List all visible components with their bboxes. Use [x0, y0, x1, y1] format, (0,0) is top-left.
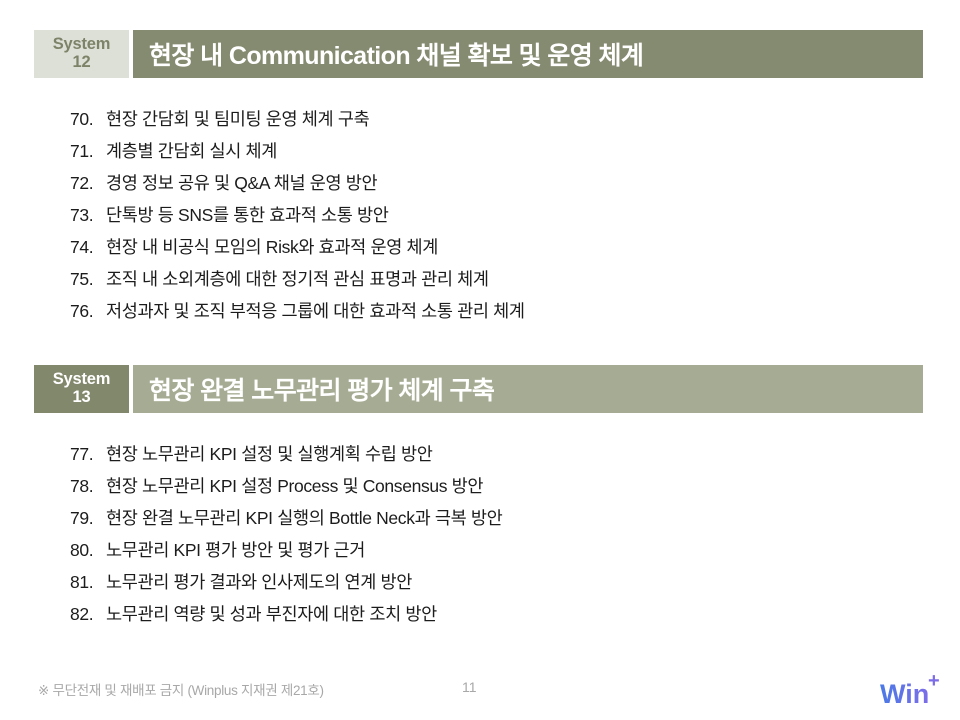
- list-item-number: 75.: [70, 269, 106, 290]
- list-item: 72. 경영 정보 공유 및 Q&A 채널 운영 방안: [70, 170, 525, 202]
- list-item: 76. 저성과자 및 조직 부적응 그룹에 대한 효과적 소통 관리 체계: [70, 298, 525, 330]
- list-item-text: 현장 간담회 및 팀미팅 운영 체계 구축: [106, 106, 525, 131]
- list-item: 78. 현장 노무관리 KPI 설정 Process 및 Consensus 방…: [70, 473, 502, 505]
- list-item-text: 저성과자 및 조직 부적응 그룹에 대한 효과적 소통 관리 체계: [106, 298, 525, 323]
- list-item-text: 조직 내 소외계층에 대한 정기적 관심 표명과 관리 체계: [106, 266, 525, 291]
- section-header-12: System 12 현장 내 Communication 채널 확보 및 운영 …: [34, 30, 923, 78]
- list-item: 82. 노무관리 역량 및 성과 부진자에 대한 조치 방안: [70, 601, 502, 633]
- section-title-bar-12: 현장 내 Communication 채널 확보 및 운영 체계: [133, 30, 923, 78]
- list-item-text: 경영 정보 공유 및 Q&A 채널 운영 방안: [106, 170, 525, 195]
- list-item: 81. 노무관리 평가 결과와 인사제도의 연계 방안: [70, 569, 502, 601]
- list-item-number: 81.: [70, 572, 106, 593]
- list-item-text: 노무관리 평가 결과와 인사제도의 연계 방안: [106, 569, 502, 594]
- page-number: 11: [462, 679, 477, 695]
- list-item-number: 77.: [70, 444, 106, 465]
- list-item-text: 현장 내 비공식 모임의 Risk와 효과적 운영 체계: [106, 234, 525, 259]
- section-title-text: 현장 내 Communication 채널 확보 및 운영 체계: [149, 36, 643, 72]
- winplus-logo-text: Win: [880, 679, 929, 709]
- list-item: 70. 현장 간담회 및 팀미팅 운영 체계 구축: [70, 106, 525, 138]
- item-list-section-13: 77. 현장 노무관리 KPI 설정 및 실행계획 수립 방안 78. 현장 노…: [70, 441, 502, 633]
- list-item-number: 70.: [70, 109, 106, 130]
- winplus-logo-plus: +: [928, 672, 940, 692]
- list-item: 74. 현장 내 비공식 모임의 Risk와 효과적 운영 체계: [70, 234, 525, 266]
- list-item-number: 71.: [70, 141, 106, 162]
- list-item-text: 노무관리 KPI 평가 방안 및 평가 근거: [106, 537, 502, 562]
- list-item-number: 80.: [70, 540, 106, 561]
- item-list-section-12: 70. 현장 간담회 및 팀미팅 운영 체계 구축 71. 계층별 간담회 실시…: [70, 106, 525, 330]
- system-badge-label: System: [53, 371, 111, 389]
- section-title-bar-13: 현장 완결 노무관리 평가 체계 구축: [133, 365, 923, 413]
- system-badge-13: System 13: [34, 365, 129, 413]
- list-item-number: 76.: [70, 301, 106, 322]
- list-item-number: 73.: [70, 205, 106, 226]
- list-item-text: 현장 완결 노무관리 KPI 실행의 Bottle Neck과 극복 방안: [106, 505, 502, 530]
- list-item-text: 단톡방 등 SNS를 통한 효과적 소통 방안: [106, 202, 525, 227]
- section-header-13: System 13 현장 완결 노무관리 평가 체계 구축: [34, 365, 923, 413]
- list-item-number: 79.: [70, 508, 106, 529]
- section-title-text: 현장 완결 노무관리 평가 체계 구축: [149, 371, 494, 407]
- list-item-text: 노무관리 역량 및 성과 부진자에 대한 조치 방안: [106, 601, 502, 626]
- list-item-number: 72.: [70, 173, 106, 194]
- footer-copyright-note: ※ 무단전재 및 재배포 금지 (Winplus 지재권 제21호): [38, 679, 324, 699]
- list-item: 77. 현장 노무관리 KPI 설정 및 실행계획 수립 방안: [70, 441, 502, 473]
- list-item: 75. 조직 내 소외계층에 대한 정기적 관심 표명과 관리 체계: [70, 266, 525, 298]
- list-item: 79. 현장 완결 노무관리 KPI 실행의 Bottle Neck과 극복 방…: [70, 505, 502, 537]
- winplus-logo-icon: Win +: [880, 672, 946, 710]
- list-item-number: 74.: [70, 237, 106, 258]
- list-item: 80. 노무관리 KPI 평가 방안 및 평가 근거: [70, 537, 502, 569]
- list-item-number: 82.: [70, 604, 106, 625]
- winplus-logo: Win +: [880, 672, 946, 710]
- list-item: 71. 계층별 간담회 실시 체계: [70, 138, 525, 170]
- list-item-number: 78.: [70, 476, 106, 497]
- slide-root: System 12 현장 내 Communication 채널 확보 및 운영 …: [0, 0, 960, 720]
- list-item-text: 현장 노무관리 KPI 설정 및 실행계획 수립 방안: [106, 441, 502, 466]
- system-badge-12: System 12: [34, 30, 129, 78]
- system-badge-number: 12: [73, 54, 91, 72]
- list-item-text: 현장 노무관리 KPI 설정 Process 및 Consensus 방안: [106, 473, 502, 498]
- list-item: 73. 단톡방 등 SNS를 통한 효과적 소통 방안: [70, 202, 525, 234]
- list-item-text: 계층별 간담회 실시 체계: [106, 138, 525, 163]
- system-badge-label: System: [53, 36, 111, 54]
- system-badge-number: 13: [73, 389, 91, 407]
